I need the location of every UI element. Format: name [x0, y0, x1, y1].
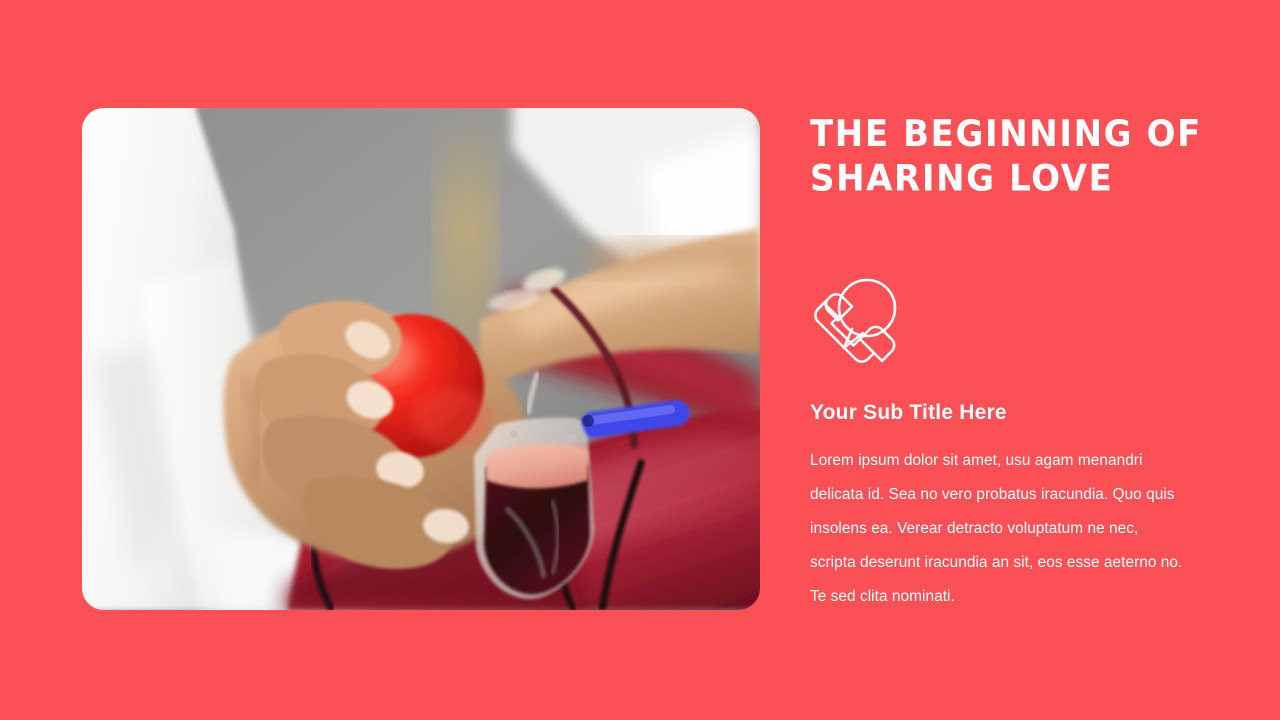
slide-root: THE BEGINNING OF SHARING LOVE Your Sub T… — [0, 0, 1280, 720]
blood-donation-photo — [82, 108, 760, 610]
phone-speech-bubble-icon — [810, 275, 902, 383]
hero-image-panel — [82, 108, 760, 610]
content-column: THE BEGINNING OF SHARING LOVE Your Sub T… — [810, 112, 1190, 196]
page-title: THE BEGINNING OF SHARING LOVE — [810, 112, 1205, 201]
body-paragraph: Lorem ipsum dolor sit amet, usu agam men… — [810, 444, 1186, 614]
sub-title: Your Sub Title Here — [810, 401, 1007, 425]
